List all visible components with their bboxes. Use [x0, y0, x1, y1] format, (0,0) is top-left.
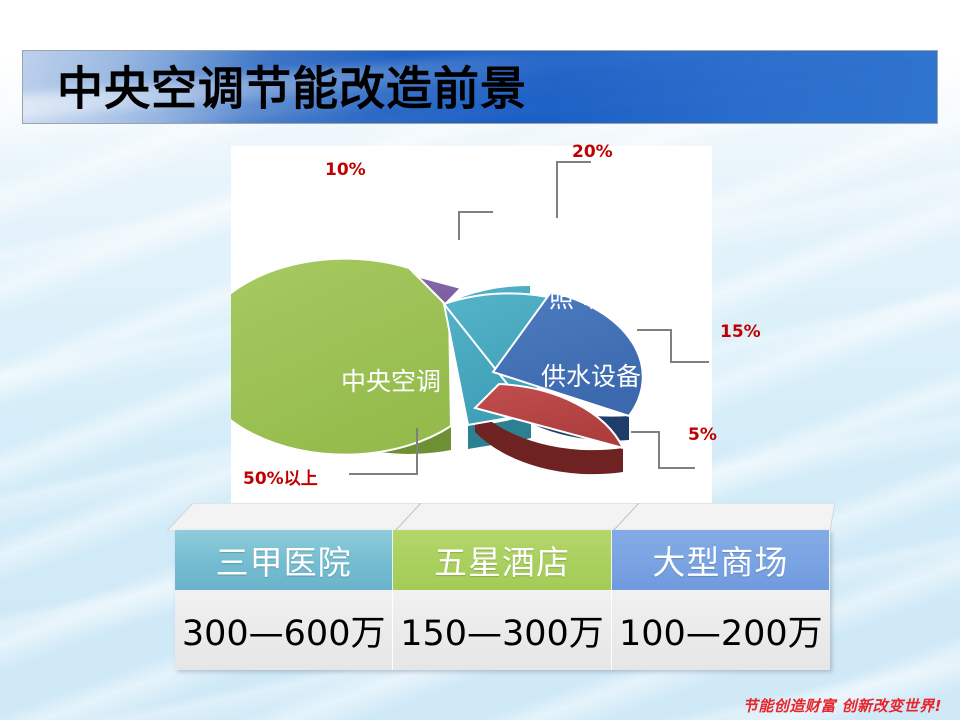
table-value-cell: 100—200万 [612, 590, 830, 670]
table-value-cell: 300—600万 [175, 590, 393, 670]
pie-slice-hvac [231, 259, 451, 455]
pie-chart-svg: 机电设备 其 他 照 明 供水设备 中央空调 [231, 140, 731, 510]
slide-canvas: 中央空调节能改造前景 [0, 0, 960, 720]
leader-line-water [631, 432, 695, 468]
table-value-cell: 150—300万 [393, 590, 611, 670]
table-grid: 三甲医院 五星酒店 大型商场 300—600万 150—300万 100—200… [175, 530, 830, 670]
pie-percent-mechanical: 10% [325, 160, 366, 180]
title-banner: 中央空调节能改造前景 [22, 50, 938, 124]
pie-label-other: 其 他 [493, 199, 551, 228]
table-header-cell: 五星酒店 [393, 530, 611, 590]
pie-percent-other: 20% [572, 142, 613, 162]
table-header-cell: 大型商场 [612, 530, 830, 590]
page-title: 中央空调节能改造前景 [57, 53, 527, 119]
table-3d-top-face [167, 503, 835, 531]
pie-label-water: 供水设备 [541, 362, 641, 391]
pie-percent-water: 5% [688, 425, 717, 445]
pie-percent-lighting: 15% [720, 322, 761, 342]
leader-line-other [557, 162, 591, 218]
comparison-table: 三甲医院 五星酒店 大型商场 300—600万 150—300万 100—200… [167, 503, 835, 671]
pie-chart: 机电设备 其 他 照 明 供水设备 中央空调 [231, 140, 731, 510]
footer-slogan: 节能创造财富 创新改变世界! [743, 695, 942, 716]
pie-label-hvac: 中央空调 [341, 367, 441, 396]
pie-percent-hvac: 50%以上 [243, 464, 318, 489]
table-header-cell: 三甲医院 [175, 530, 393, 590]
pie-label-lighting: 照 明 [549, 284, 607, 313]
pie-label-mechanical: 机电设备 [403, 199, 503, 228]
leader-line-lighting [637, 330, 709, 362]
